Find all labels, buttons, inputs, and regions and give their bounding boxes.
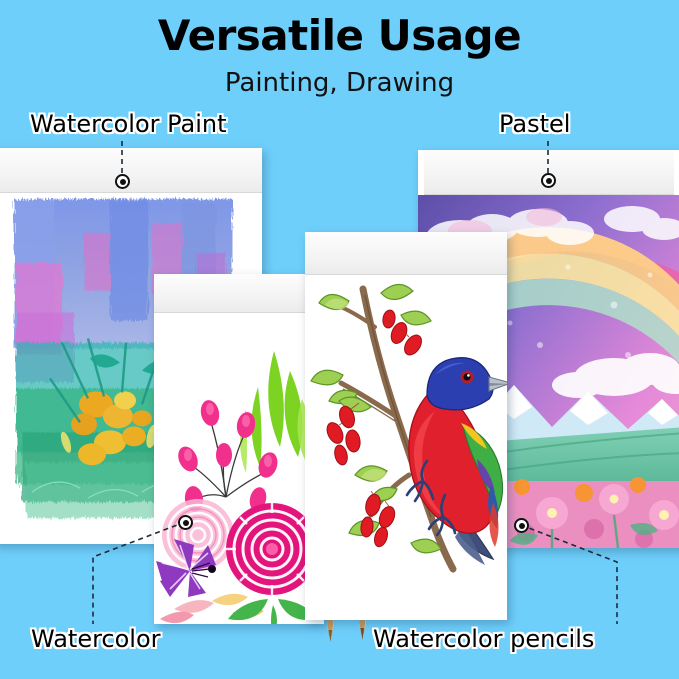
- artwork-watercolor: [154, 313, 324, 624]
- marker-dot-watercolor-paint: [115, 174, 130, 189]
- watercolor-pencils-pad: [305, 232, 507, 620]
- pad-binding-strip: [305, 232, 507, 275]
- callout-pastel: Pastel: [499, 110, 570, 138]
- pad-binding-strip: [0, 148, 262, 193]
- artwork-watercolor-pencils: [305, 275, 507, 620]
- watercolor-pad: [154, 274, 324, 624]
- marker-dot-pastel: [541, 173, 556, 188]
- pad-sheet: [305, 275, 507, 620]
- callout-watercolor-pencils: Watercolor pencils: [373, 625, 594, 653]
- page-subtitle: Painting, Drawing: [0, 68, 679, 98]
- marker-dot-watercolor-pencils: [514, 518, 529, 533]
- callout-watercolor-paint: Watercolor Paint: [30, 110, 227, 138]
- pad-sheet: [154, 313, 324, 624]
- marker-dot-watercolor: [178, 515, 193, 530]
- poster-canvas: Versatile Usage Painting, Drawing Waterc…: [0, 0, 679, 679]
- page-title: Versatile Usage: [0, 14, 679, 58]
- callout-watercolor: Watercolor: [31, 625, 161, 653]
- pad-binding-strip: [154, 274, 324, 313]
